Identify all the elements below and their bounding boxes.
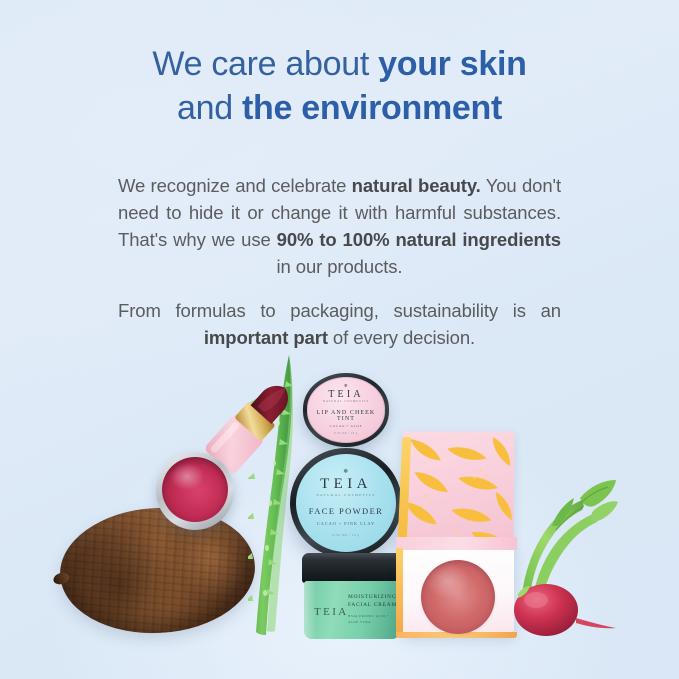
powder-brand-name: TEIA bbox=[320, 477, 372, 492]
moisturizing-facial-cream-jar: TEIA MOISTURIZING FACIAL CREAM HYALURONI… bbox=[302, 553, 402, 639]
tint-tin-label: ❅ TEIA NATURAL COSMETICS LIP AND CHEEK T… bbox=[307, 377, 385, 443]
compact-base-left-edge bbox=[396, 548, 403, 635]
blush-pan bbox=[421, 560, 495, 634]
tint-logo-mark: ❅ bbox=[344, 384, 348, 389]
powder-logo-mark: ❅ bbox=[343, 469, 348, 475]
powder-brand-tagline: NATURAL COSMETICS bbox=[316, 494, 375, 497]
tint-net-weight: 0.35 OZ / 10 g bbox=[334, 433, 357, 436]
product-photo-scene: ❅ TEIA NATURAL COSMETICS LIP AND CHEEK T… bbox=[0, 0, 679, 679]
tint-brand-name: TEIA bbox=[328, 390, 364, 400]
tint-variant: CACAO + ALOE bbox=[330, 425, 363, 428]
face-powder-jar: ❅ TEIA NATURAL COSMETICS FACE POWDER CAC… bbox=[290, 448, 402, 558]
radish-icon bbox=[494, 474, 618, 636]
powder-jar-label: ❅ TEIA NATURAL COSMETICS FACE POWDER CAC… bbox=[296, 454, 396, 552]
powder-net-weight: 0.52 OZ / 15 g bbox=[333, 534, 360, 537]
tint-product-name-line2: TINT bbox=[337, 416, 355, 422]
pink-balm-surface bbox=[162, 457, 228, 522]
lip-and-cheek-tint-tin: ❅ TEIA NATURAL COSMETICS LIP AND CHEEK T… bbox=[303, 373, 389, 447]
cream-jar-label: TEIA MOISTURIZING FACIAL CREAM HYALURONI… bbox=[304, 581, 400, 639]
radish-image bbox=[494, 474, 618, 636]
cream-product-name-line2: FACIAL CREAM bbox=[348, 603, 397, 608]
powder-product-name: FACE POWDER bbox=[309, 507, 384, 516]
cream-jar-lid bbox=[302, 553, 402, 583]
open-balm-tin-image bbox=[156, 452, 234, 530]
tint-product-name-line1: LIP AND CHEEK bbox=[317, 410, 376, 416]
cream-brand-name: TEIA bbox=[314, 607, 349, 618]
promo-banner: We care about your skin and the environm… bbox=[0, 0, 679, 679]
cream-variant-line1: HYALURONIC ACID + bbox=[348, 615, 389, 618]
cream-product-name-line1: MOISTURIZING bbox=[348, 595, 397, 600]
tint-brand-tagline: NATURAL COSMETICS bbox=[323, 401, 369, 404]
cream-variant-line2: ALOE VERA bbox=[348, 621, 371, 624]
powder-variant: CACAO + PINK CLAY bbox=[317, 522, 375, 526]
